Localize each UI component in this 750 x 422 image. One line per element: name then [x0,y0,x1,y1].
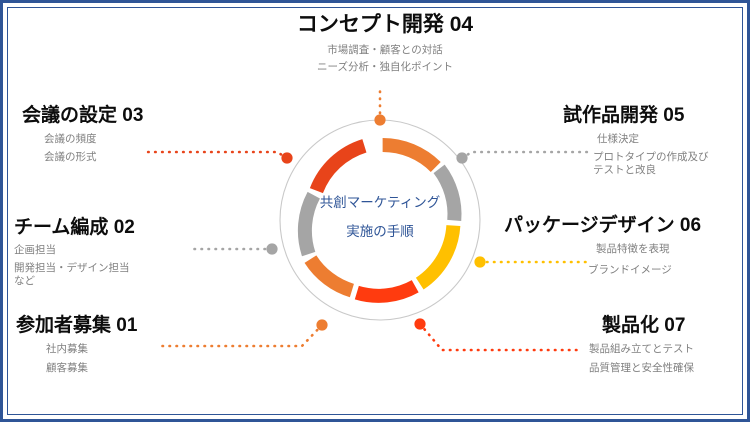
step-02[interactable]: チーム編成 02 企画担当 開発担当・デザイン担当 など [14,212,135,288]
step-04-title: コンセプト開発 04 [275,8,495,38]
connector-dot-01 [316,319,327,330]
step-01-detail-line-1: 社内募集 [46,343,137,356]
step-07-detail-line-1: 製品組み立てとテスト [589,343,694,356]
connector-line-07 [420,324,580,350]
step-06-detail-line-2: ブランドイメージ [588,264,701,277]
step-06[interactable]: パッケージデザイン 06 製品特徴を表現 ブランドイメージ [504,210,701,277]
step-06-detail-line-1: 製品特徴を表現 [596,243,701,256]
step-02-detail-line-2: 開発担当・デザイン担当 [14,262,135,275]
step-06-details: 製品特徴を表現 ブランドイメージ [596,243,701,277]
step-01-details: 社内募集 顧客募集 [46,343,137,375]
step-01-title: 参加者募集 01 [16,310,137,337]
step-05[interactable]: 試作品開発 05 仕様決定 プロトタイプの作成及び テストと改良 [563,100,709,177]
step-05-detail-line-1: 仕様決定 [597,133,709,146]
step-04-detail-line-2: ニーズ分析・独自化ポイント [275,61,495,74]
step-05-detail-line-2: プロトタイプの作成及び [593,151,709,164]
connector-line-03 [148,152,287,158]
step-02-details: 企画担当 開発担当・デザイン担当 など [14,244,135,288]
step-03[interactable]: 会議の設定 03 会議の頻度 会議の形式 [22,100,143,164]
connector-dot-05 [456,152,467,163]
donut-segment-04 [383,145,436,167]
step-04[interactable]: コンセプト開発 04 市場調査・顧客との対話 ニーズ分析・独自化ポイント [275,8,495,74]
center-label-line1: 共創マーケティング [285,196,475,210]
donut-segment-03 [316,146,364,191]
step-07-details: 製品組み立てとテスト 品質管理と安全性確保 [589,343,694,375]
step-02-detail-line-3: など [14,275,135,288]
step-07-title: 製品化 07 [602,310,694,337]
connector-line-01 [162,325,322,346]
step-05-detail-line-3: テストと改良 [593,164,709,177]
center-label-line2: 実施の手順 [285,225,475,239]
connector-dot-03 [281,152,292,163]
connector-dot-06 [474,256,485,267]
step-07[interactable]: 製品化 07 製品組み立てとテスト 品質管理と安全性確保 [590,310,694,375]
step-05-details: 仕様決定 [597,133,709,146]
step-02-detail-line-1: 企画担当 [14,244,135,257]
step-03-detail-line-2: 会議の形式 [44,151,143,164]
donut-segment-07 [357,286,415,296]
step-06-title: パッケージデザイン 06 [504,210,701,237]
step-04-details: 市場調査・顧客との対話 ニーズ分析・独自化ポイント [275,44,495,74]
step-03-title: 会議の設定 03 [22,100,143,127]
step-04-detail-line-1: 市場調査・顧客との対話 [275,44,495,57]
step-03-details: 会議の頻度 会議の形式 [44,133,143,164]
connector-dot-07 [414,318,425,329]
center-label: 共創マーケティング 実施の手順 [285,196,475,238]
step-03-detail-line-1: 会議の頻度 [44,133,143,146]
connector-dot-04 [374,114,385,125]
connector-dot-02 [266,243,277,254]
diagram-canvas: 共創マーケティング 実施の手順 コンセプト開発 04 市場調査・顧客との対話 ニ… [0,0,750,422]
donut-segment-01 [310,259,351,290]
step-05-title: 試作品開発 05 [563,100,709,127]
step-01[interactable]: 参加者募集 01 社内募集 顧客募集 [16,310,137,375]
step-07-detail-line-2: 品質管理と安全性確保 [589,362,694,375]
step-01-detail-line-2: 顧客募集 [46,362,137,375]
step-02-title: チーム編成 02 [14,212,135,239]
